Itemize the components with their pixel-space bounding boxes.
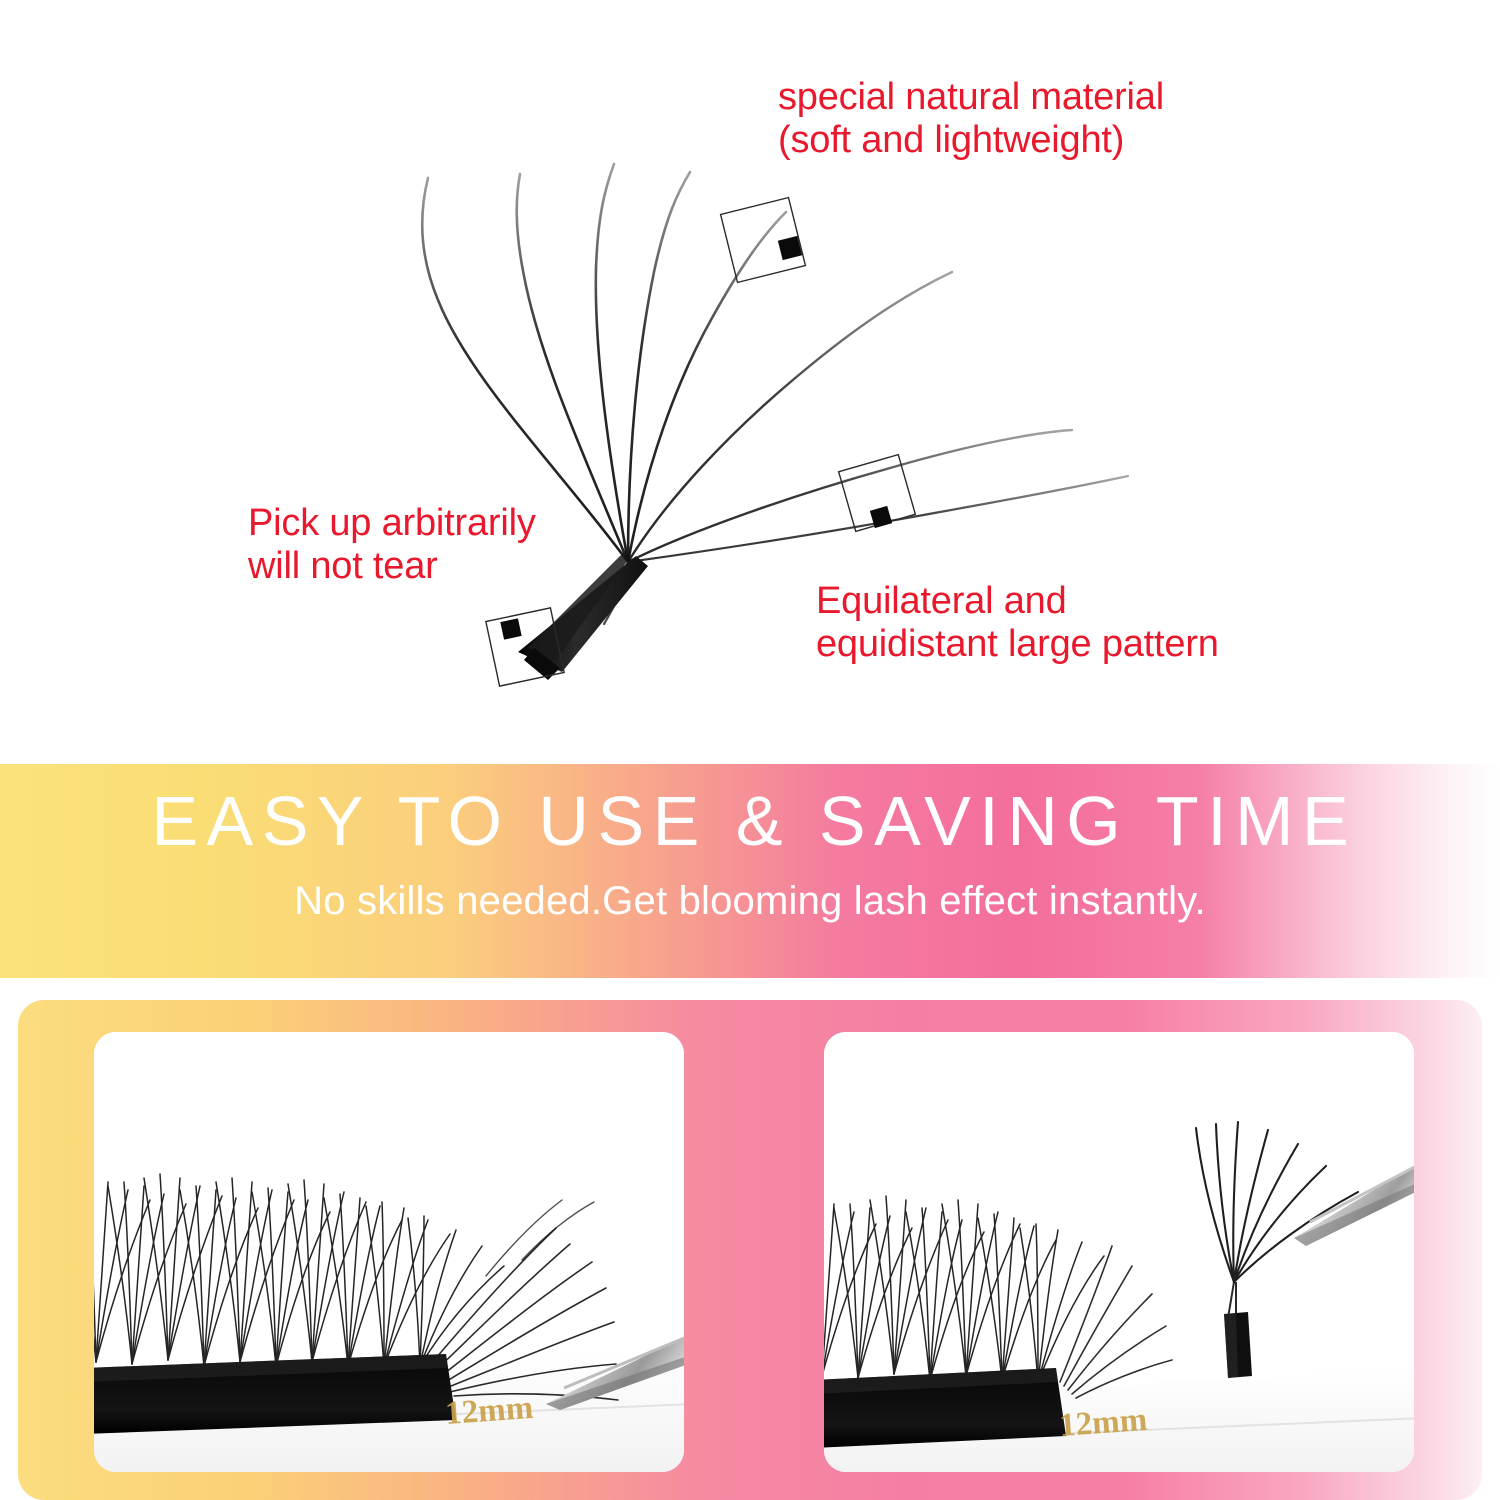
product-feature-page: special natural material (soft and light… bbox=[0, 0, 1500, 1500]
callout-marker-equilateral bbox=[839, 455, 916, 532]
lash-adhesive-band bbox=[94, 1354, 456, 1434]
photos-gradient-panel: 12mm bbox=[18, 1000, 1482, 1500]
photo-card-lash-strip: 12mm bbox=[94, 1032, 684, 1472]
headline-banner: EASY TO USE & SAVING TIME No skills need… bbox=[0, 764, 1500, 978]
photo-card-lash-fan-pickup: 12mm bbox=[824, 1032, 1414, 1472]
lash-base-strip bbox=[518, 554, 648, 680]
product-photos-section: 12mm bbox=[0, 978, 1500, 1500]
lash-strip-photo: 12mm bbox=[94, 1032, 684, 1472]
banner-subtitle: No skills needed.Get blooming lash effec… bbox=[0, 881, 1500, 921]
lash-adhesive-band bbox=[824, 1368, 1066, 1448]
lash-fan-illustration bbox=[0, 0, 1500, 764]
annotation-special-material: special natural material (soft and light… bbox=[778, 76, 1164, 163]
annotation-pick-up: Pick up arbitrarily will not tear bbox=[248, 502, 536, 589]
lash-diagram-section: special natural material (soft and light… bbox=[0, 0, 1500, 764]
annotation-equilateral: Equilateral and equidistant large patter… bbox=[816, 580, 1219, 667]
banner-title: EASY TO USE & SAVING TIME bbox=[0, 786, 1500, 856]
lash-fan-pickup-photo: 12mm bbox=[824, 1032, 1414, 1472]
tray-size-label-right: 12mm bbox=[1058, 1402, 1148, 1444]
tray-size-label-left: 12mm bbox=[444, 1390, 534, 1432]
